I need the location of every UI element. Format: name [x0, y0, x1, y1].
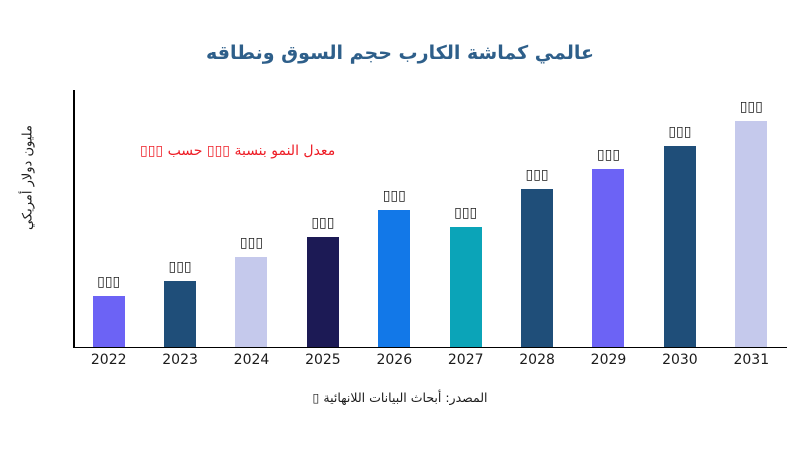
bar-value-label: ▯▯▯: [716, 99, 787, 115]
bar[interactable]: [378, 210, 410, 347]
bar[interactable]: [450, 227, 482, 347]
plot-area: ▯▯▯▯▯▯▯▯▯▯▯▯▯▯▯▯▯▯▯▯▯▯▯▯▯▯▯▯▯▯: [73, 90, 787, 348]
y-axis-label: مليون دولار أمريكي: [21, 78, 36, 278]
bar-value-label: ▯▯▯: [144, 259, 215, 275]
bar-value-label: ▯▯▯: [287, 215, 358, 231]
growth-rate-annotation: معدل النمو بنسبة ▯▯▯ حسب ▯▯▯: [140, 143, 335, 159]
x-axis-tick-labels: 2022202320242025202620272028202920302031: [73, 352, 787, 378]
bar[interactable]: [307, 237, 339, 347]
x-tick-2025: 2025: [287, 352, 358, 368]
bar[interactable]: [521, 189, 553, 347]
x-tick-2023: 2023: [144, 352, 215, 368]
x-tick-2031: 2031: [716, 352, 787, 368]
x-tick-2029: 2029: [573, 352, 644, 368]
bar-value-label: ▯▯▯: [359, 188, 430, 204]
bar-value-label: ▯▯▯: [216, 235, 287, 251]
bar[interactable]: [664, 146, 696, 347]
bar-value-label: ▯▯▯: [644, 124, 715, 140]
x-tick-2022: 2022: [73, 352, 144, 368]
bar-value-label: ▯▯▯: [73, 274, 144, 290]
x-tick-2024: 2024: [216, 352, 287, 368]
x-tick-2026: 2026: [359, 352, 430, 368]
bar-value-label: ▯▯▯: [573, 147, 644, 163]
bar-value-label: ▯▯▯: [430, 205, 501, 221]
bar[interactable]: [592, 169, 624, 347]
chart-canvas: عالمي كماشة الكارب حجم السوق ونطاقه مليو…: [0, 0, 800, 450]
bar[interactable]: [735, 121, 767, 347]
x-tick-2027: 2027: [430, 352, 501, 368]
x-tick-2030: 2030: [644, 352, 715, 368]
x-tick-2028: 2028: [501, 352, 572, 368]
bar-value-label: ▯▯▯: [501, 167, 572, 183]
bar[interactable]: [93, 296, 125, 347]
source-note: المصدر: أبحاث البيانات اللانهائية ▯: [0, 390, 800, 405]
x-axis-line: [73, 347, 787, 349]
y-axis-line: [73, 90, 75, 348]
bar[interactable]: [235, 257, 267, 347]
bar[interactable]: [164, 281, 196, 347]
page-title: عالمي كماشة الكارب حجم السوق ونطاقه: [0, 42, 800, 64]
